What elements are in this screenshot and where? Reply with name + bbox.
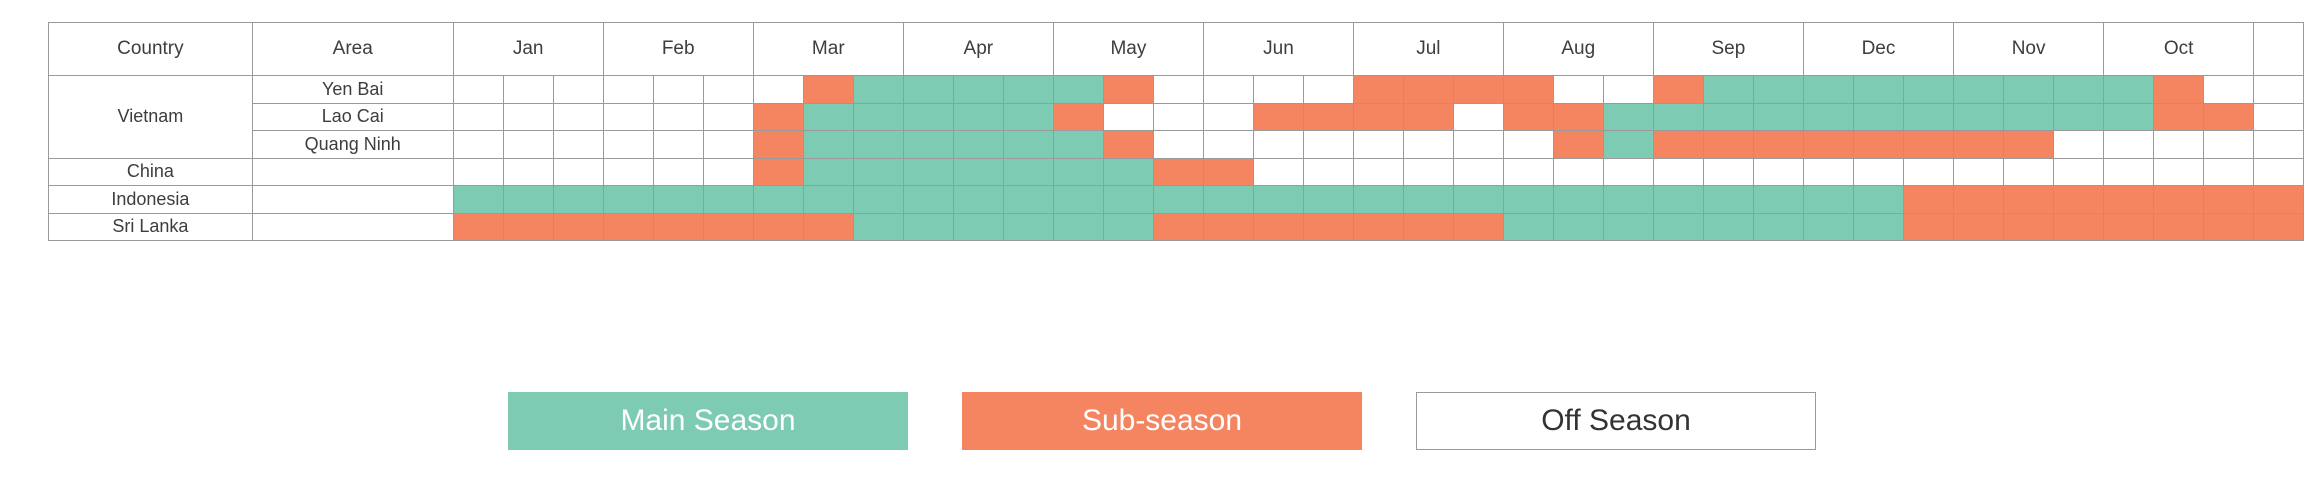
season-cell [2054,158,2104,186]
season-cell [1403,186,1453,214]
season-cell [653,131,703,159]
season-cell [1053,186,1103,214]
column-header-month-feb: Feb [603,23,753,76]
column-header-area: Area [252,23,453,76]
season-cell [1103,158,1153,186]
season-cell [1954,76,2004,104]
season-cell [1353,186,1403,214]
season-cell [2154,131,2204,159]
season-cell [1103,131,1153,159]
season-cell [453,103,503,131]
season-cell [653,186,703,214]
season-cell [803,158,853,186]
season-cell [653,76,703,104]
season-cell [753,131,803,159]
season-cell [553,186,603,214]
season-cell [2054,186,2104,214]
season-cell [1853,186,1903,214]
season-cell [1553,76,1603,104]
season-cell [1503,103,1553,131]
season-cell [1053,76,1103,104]
season-cell [453,131,503,159]
season-cell [2154,76,2204,104]
season-cell [1253,158,1303,186]
season-cell [1954,213,2004,241]
seasonality-chart: Country Area JanFebMarAprMayJunJulAugSep… [0,0,2304,500]
season-cell [1903,158,1953,186]
season-cell [1903,103,1953,131]
season-cell [753,103,803,131]
season-cell [1703,186,1753,214]
season-cell [1003,213,1053,241]
season-cell [1203,131,1253,159]
row-label-area: Lao Cai [252,103,453,131]
table-row: VietnamYen Bai [49,76,2304,104]
header-row: Country Area JanFebMarAprMayJunJulAugSep… [49,23,2304,76]
season-cell [1803,103,1853,131]
season-cell [1003,76,1053,104]
season-cell [2254,131,2304,159]
season-cell [2254,213,2304,241]
season-cell [1253,186,1303,214]
column-header-month-may: May [1053,23,1203,76]
season-cell [453,213,503,241]
season-cell [1353,103,1403,131]
season-cell [1153,158,1203,186]
season-cell [953,103,1003,131]
season-cell [1053,213,1103,241]
season-cell [603,76,653,104]
season-cell [1503,158,1553,186]
season-cell [1903,131,1953,159]
season-cell [703,158,753,186]
season-cell [1203,158,1253,186]
season-cell [1203,186,1253,214]
season-cell [853,103,903,131]
season-cell [853,213,903,241]
season-cell [2054,103,2104,131]
season-cell [2054,213,2104,241]
legend-item-sub[interactable]: Sub-season [962,392,1362,450]
season-cell [2254,186,2304,214]
table-body: VietnamYen BaiLao CaiQuang NinhChinaIndo… [49,76,2304,241]
season-cell [1103,213,1153,241]
season-cell [553,131,603,159]
season-cell [1703,131,1753,159]
season-cell [1203,213,1253,241]
season-cell [1303,76,1353,104]
season-cell [1954,186,2004,214]
season-cell [1803,131,1853,159]
season-cell [1553,103,1603,131]
season-cell [803,213,853,241]
season-cell [1453,158,1503,186]
season-cell [553,76,603,104]
column-header-month-jan: Jan [453,23,603,76]
season-cell [1653,213,1703,241]
legend-item-main[interactable]: Main Season [508,392,908,450]
season-cell [503,103,553,131]
season-cell [1153,76,1203,104]
season-cell [1853,131,1903,159]
season-cell [853,76,903,104]
season-cell [1103,103,1153,131]
season-cell [1853,76,1903,104]
season-cell [953,158,1003,186]
season-cell [1603,186,1653,214]
row-label-country: Vietnam [49,76,253,159]
season-cell [2104,131,2154,159]
season-cell [1753,158,1803,186]
season-cell [1653,131,1703,159]
season-cell [1553,158,1603,186]
season-cell [553,103,603,131]
season-cell [2254,103,2304,131]
season-cell [653,158,703,186]
table-row: China [49,158,2304,186]
season-cell [503,158,553,186]
season-cell [2054,131,2104,159]
season-cell [903,213,953,241]
season-cell [2054,76,2104,104]
season-cell [503,131,553,159]
column-header-month-sep: Sep [1653,23,1803,76]
row-label-area [252,213,453,241]
season-cell [1553,131,1603,159]
season-cell [1003,103,1053,131]
row-label-country: Indonesia [49,186,253,214]
season-cell [1203,76,1253,104]
season-cell [453,76,503,104]
season-cell [1103,186,1153,214]
table-row: Sri Lanka [49,213,2304,241]
season-cell [503,213,553,241]
season-cell [2204,186,2254,214]
season-cell [1403,158,1453,186]
season-cell [453,186,503,214]
table-row: Quang Ninh [49,131,2304,159]
season-cell [1253,76,1303,104]
season-cell [703,131,753,159]
season-cell [1303,186,1353,214]
season-cell [1603,103,1653,131]
season-cell [2004,213,2054,241]
season-cell [1653,103,1703,131]
legend: Main SeasonSub-seasonOff Season [508,392,1816,450]
season-cell [1903,76,1953,104]
season-cell [1853,158,1903,186]
season-cell [1403,103,1453,131]
season-cell [1954,158,2004,186]
season-cell [2104,158,2154,186]
season-cell [953,131,1003,159]
season-cell [1853,213,1903,241]
season-cell [1753,213,1803,241]
season-cell [903,103,953,131]
season-cell [1253,103,1303,131]
season-cell [1603,158,1653,186]
season-cell [1553,213,1603,241]
season-cell [1403,213,1453,241]
season-cell [903,186,953,214]
season-cell [1253,131,1303,159]
row-label-country: China [49,158,253,186]
season-cell [1753,103,1803,131]
season-cell [753,158,803,186]
column-header-country: Country [49,23,253,76]
season-cell [2004,131,2054,159]
season-cell [1403,131,1453,159]
season-cell [853,158,903,186]
season-cell [803,131,853,159]
season-cell [1803,213,1853,241]
season-cell [753,186,803,214]
season-cell [1453,103,1503,131]
season-cell [453,158,503,186]
season-cell [1053,131,1103,159]
column-header-month-nov: Nov [1954,23,2104,76]
season-cell [1903,213,1953,241]
season-cell [1803,76,1853,104]
season-cell [703,103,753,131]
season-cell [1653,186,1703,214]
table-row: Indonesia [49,186,2304,214]
season-cell [503,186,553,214]
column-header-month-jul: Jul [1353,23,1503,76]
row-label-country: Sri Lanka [49,213,253,241]
season-cell [1903,186,1953,214]
season-cell [1053,103,1103,131]
season-cell [1403,76,1453,104]
season-cell [1553,186,1603,214]
season-cell [2154,103,2204,131]
season-cell [2204,213,2254,241]
season-cell [903,76,953,104]
season-cell [1153,103,1203,131]
season-cell [1954,131,2004,159]
season-cell [1003,186,1053,214]
table-header: Country Area JanFebMarAprMayJunJulAugSep… [49,23,2304,76]
column-header-month-aug: Aug [1503,23,1653,76]
season-cell [1703,158,1753,186]
season-cell [1703,76,1753,104]
season-cell [953,76,1003,104]
row-label-area [252,158,453,186]
season-cell [2204,158,2254,186]
season-cell [753,76,803,104]
season-cell [1503,76,1553,104]
season-cell [2154,186,2204,214]
row-label-area [252,186,453,214]
season-cell [603,186,653,214]
season-cell [1303,158,1353,186]
season-cell [1153,131,1203,159]
season-cell [2104,76,2154,104]
season-cell [1803,158,1853,186]
season-cell [1303,213,1353,241]
row-label-area: Yen Bai [252,76,453,104]
season-cell [1503,213,1553,241]
season-cell [953,213,1003,241]
table-row: Lao Cai [49,103,2304,131]
season-cell [553,213,603,241]
season-cell [1653,76,1703,104]
season-cell [703,186,753,214]
season-cell [603,103,653,131]
season-cell [2204,103,2254,131]
season-cell [1803,186,1853,214]
season-cell [603,213,653,241]
season-cell [2254,158,2304,186]
season-cell [1753,76,1803,104]
season-cell [2204,131,2254,159]
season-cell [903,158,953,186]
season-cell [603,131,653,159]
season-cell [1453,76,1503,104]
season-cell [1703,103,1753,131]
season-cell [1603,131,1653,159]
season-cell [1954,103,2004,131]
season-cell [1853,103,1903,131]
season-cell [1453,186,1503,214]
season-cell [953,186,1003,214]
season-cell [2004,76,2054,104]
season-cell [853,131,903,159]
season-cell [1353,158,1403,186]
season-cell [2154,213,2204,241]
seasonality-table: Country Area JanFebMarAprMayJunJulAugSep… [48,22,2304,241]
legend-item-off[interactable]: Off Season [1416,392,1816,450]
season-cell [1353,76,1403,104]
season-cell [2104,186,2154,214]
column-header-month-jun: Jun [1203,23,1353,76]
season-cell [1253,213,1303,241]
season-cell [2254,76,2304,104]
season-cell [703,213,753,241]
season-cell [2204,76,2254,104]
season-cell [753,213,803,241]
season-cell [1353,131,1403,159]
season-cell [2104,103,2154,131]
season-cell [803,76,853,104]
row-label-area: Quang Ninh [252,131,453,159]
season-cell [1453,213,1503,241]
column-header-month-mar: Mar [753,23,903,76]
season-cell [2004,186,2054,214]
season-cell [2004,103,2054,131]
column-header-month-apr: Apr [903,23,1053,76]
season-cell [1753,186,1803,214]
season-cell [1503,131,1553,159]
season-cell [1003,131,1053,159]
season-cell [1303,131,1353,159]
season-cell [1153,213,1203,241]
season-cell [1703,213,1753,241]
season-cell [1603,76,1653,104]
season-cell [603,158,653,186]
season-cell [2154,158,2204,186]
season-cell [1303,103,1353,131]
season-cell [1103,76,1153,104]
season-cell [1353,213,1403,241]
season-cell [1753,131,1803,159]
column-header-month-dec: Dec [1803,23,1953,76]
season-cell [653,103,703,131]
season-cell [853,186,903,214]
season-cell [1203,103,1253,131]
season-cell [1503,186,1553,214]
season-cell [1453,131,1503,159]
season-cell [1003,158,1053,186]
season-cell [2004,158,2054,186]
season-cell [653,213,703,241]
column-header-month-oct: Oct [2104,23,2254,76]
season-cell [803,186,853,214]
season-cell [1053,158,1103,186]
season-cell [1153,186,1203,214]
season-cell [803,103,853,131]
season-cell [503,76,553,104]
season-cell [553,158,603,186]
season-cell [1603,213,1653,241]
season-cell [2104,213,2154,241]
season-cell [1653,158,1703,186]
season-cell [903,131,953,159]
season-cell [703,76,753,104]
